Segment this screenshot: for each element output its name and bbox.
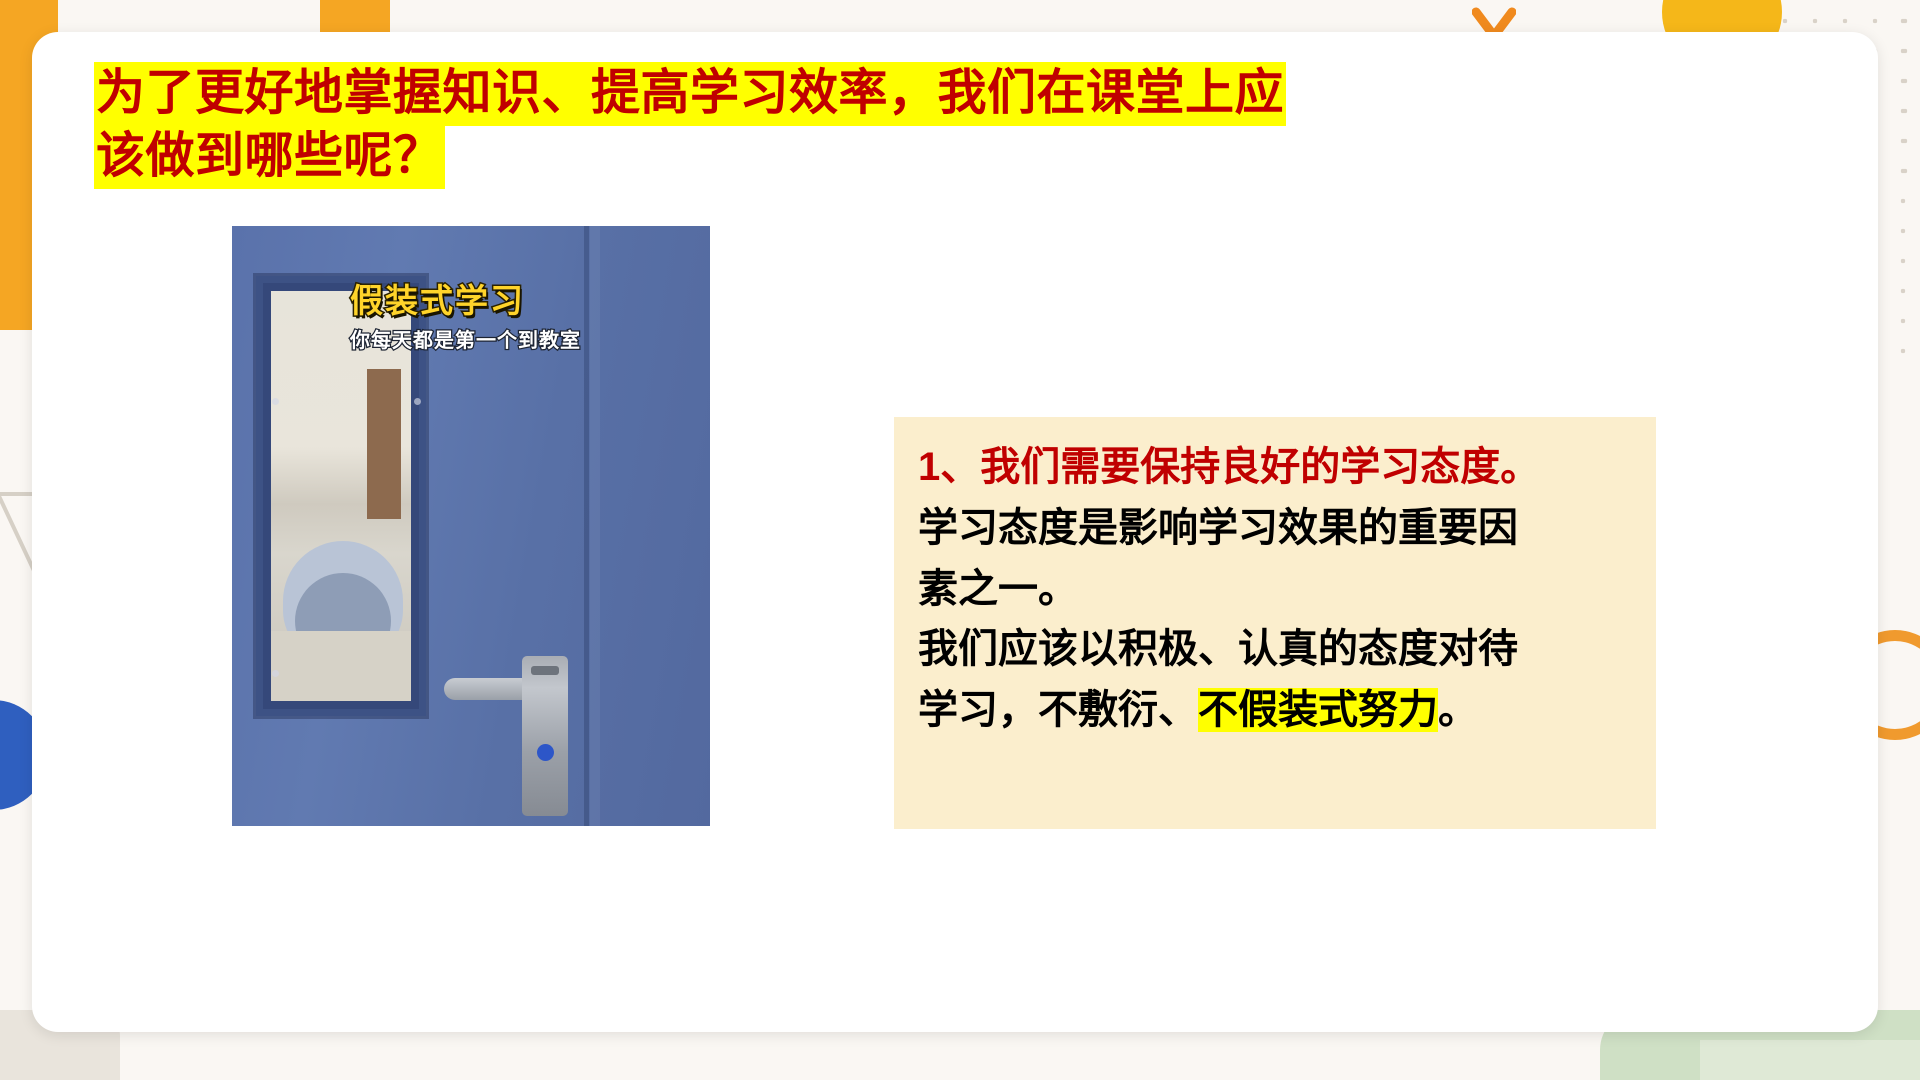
panel-line4-highlight: 不假装式努力: [1198, 688, 1438, 732]
interior-wood-panel: [367, 369, 401, 519]
dot-grid-right-edge: [1888, 6, 1920, 366]
panel-body-line-4: 学习，不敷衍、不假装式努力。: [918, 680, 1634, 741]
interior-lower-wall: [271, 631, 411, 701]
door-screw: [272, 670, 279, 677]
door-card-slot: [531, 666, 559, 675]
door-screw: [414, 398, 421, 405]
page-title-line-1: 为了更好地掌握知识、提高学习效率，我们在课堂上应: [94, 62, 1594, 125]
panel-body-line-1: 学习态度是影响学习效果的重要因: [918, 498, 1634, 559]
title-highlight-2: 该做到哪些呢？: [94, 125, 445, 189]
content-panel: 1、我们需要保持良好的学习态度。 学习态度是影响学习效果的重要因 素之一。 我们…: [894, 417, 1656, 829]
panel-body-line-3: 我们应该以积极、认真的态度对待: [918, 619, 1634, 680]
classroom-door-photo: 假装式学习 你每天都是第一个到教室: [232, 226, 710, 826]
title-highlight-1: 为了更好地掌握知识、提高学习效率，我们在课堂上应: [94, 62, 1286, 126]
door-screw: [272, 398, 279, 405]
panel-heading: 1、我们需要保持良好的学习态度。: [918, 437, 1634, 498]
panel-line4-suffix: 。: [1438, 688, 1478, 732]
door-lock-plate: [522, 656, 568, 816]
panel-body-line-2: 素之一。: [918, 559, 1634, 620]
photo-caption-subtitle: 你每天都是第一个到教室: [350, 324, 710, 353]
door-lock-indicator: [537, 744, 554, 761]
page-title-line-2: 该做到哪些呢？: [94, 125, 1594, 188]
slide-card: 为了更好地掌握知识、提高学习效率，我们在课堂上应 该做到哪些呢？ 假装式学习 你…: [32, 32, 1878, 1032]
page-title: 为了更好地掌握知识、提高学习效率，我们在课堂上应 该做到哪些呢？: [94, 62, 1594, 187]
photo-caption-title: 假装式学习: [350, 274, 710, 322]
panel-line4-prefix: 学习，不敷衍、: [918, 688, 1198, 732]
green-shape-bottom-right-2: [1700, 1040, 1920, 1080]
